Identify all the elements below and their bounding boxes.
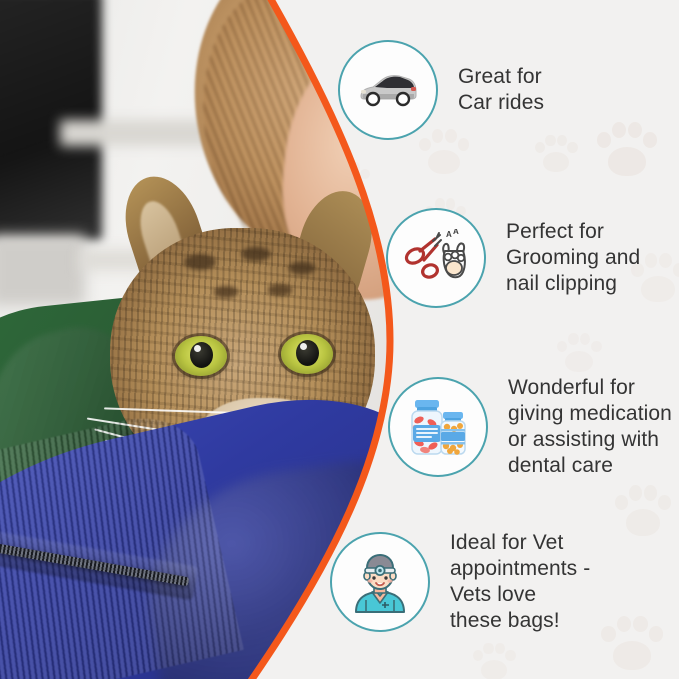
feature-row-vet-appointments: Ideal for Vet appointments - Vets love t… bbox=[330, 530, 590, 634]
feature-icon-circle bbox=[338, 40, 438, 140]
paw-watermark bbox=[614, 482, 672, 538]
nail-clipper-paw-icon: AA bbox=[403, 229, 469, 287]
cat-forehead-stripes bbox=[170, 240, 330, 330]
car-icon bbox=[357, 70, 419, 110]
cat-eye-glint bbox=[300, 343, 307, 350]
feature-text: Wonderful for giving medication or assis… bbox=[508, 375, 672, 479]
paw-watermark bbox=[472, 640, 516, 679]
veterinarian-icon bbox=[348, 550, 412, 614]
paw-watermark bbox=[600, 612, 664, 672]
feature-row-grooming: AA Perfect for Grooming and nail clippin… bbox=[386, 208, 640, 308]
feature-row-car-rides: Great for Car rides bbox=[338, 40, 544, 140]
monitor-stand bbox=[0, 235, 85, 305]
cat-eye-glint bbox=[194, 345, 201, 352]
feature-row-medication: Wonderful for giving medication or assis… bbox=[388, 375, 672, 479]
pill-bottles-icon bbox=[405, 396, 471, 458]
feature-icon-circle bbox=[388, 377, 488, 477]
feature-text: Great for Car rides bbox=[458, 64, 544, 116]
feature-icon-circle: AA bbox=[386, 208, 486, 308]
feature-text: Ideal for Vet appointments - Vets love t… bbox=[450, 530, 590, 634]
feature-text: Perfect for Grooming and nail clipping bbox=[506, 219, 640, 297]
promo-infographic: Great for Car rides bbox=[0, 0, 679, 679]
feature-icon-circle bbox=[330, 532, 430, 632]
svg-text:A: A bbox=[446, 230, 452, 239]
svg-text:A: A bbox=[453, 229, 459, 236]
paw-watermark bbox=[596, 118, 658, 178]
paw-watermark bbox=[556, 330, 602, 374]
